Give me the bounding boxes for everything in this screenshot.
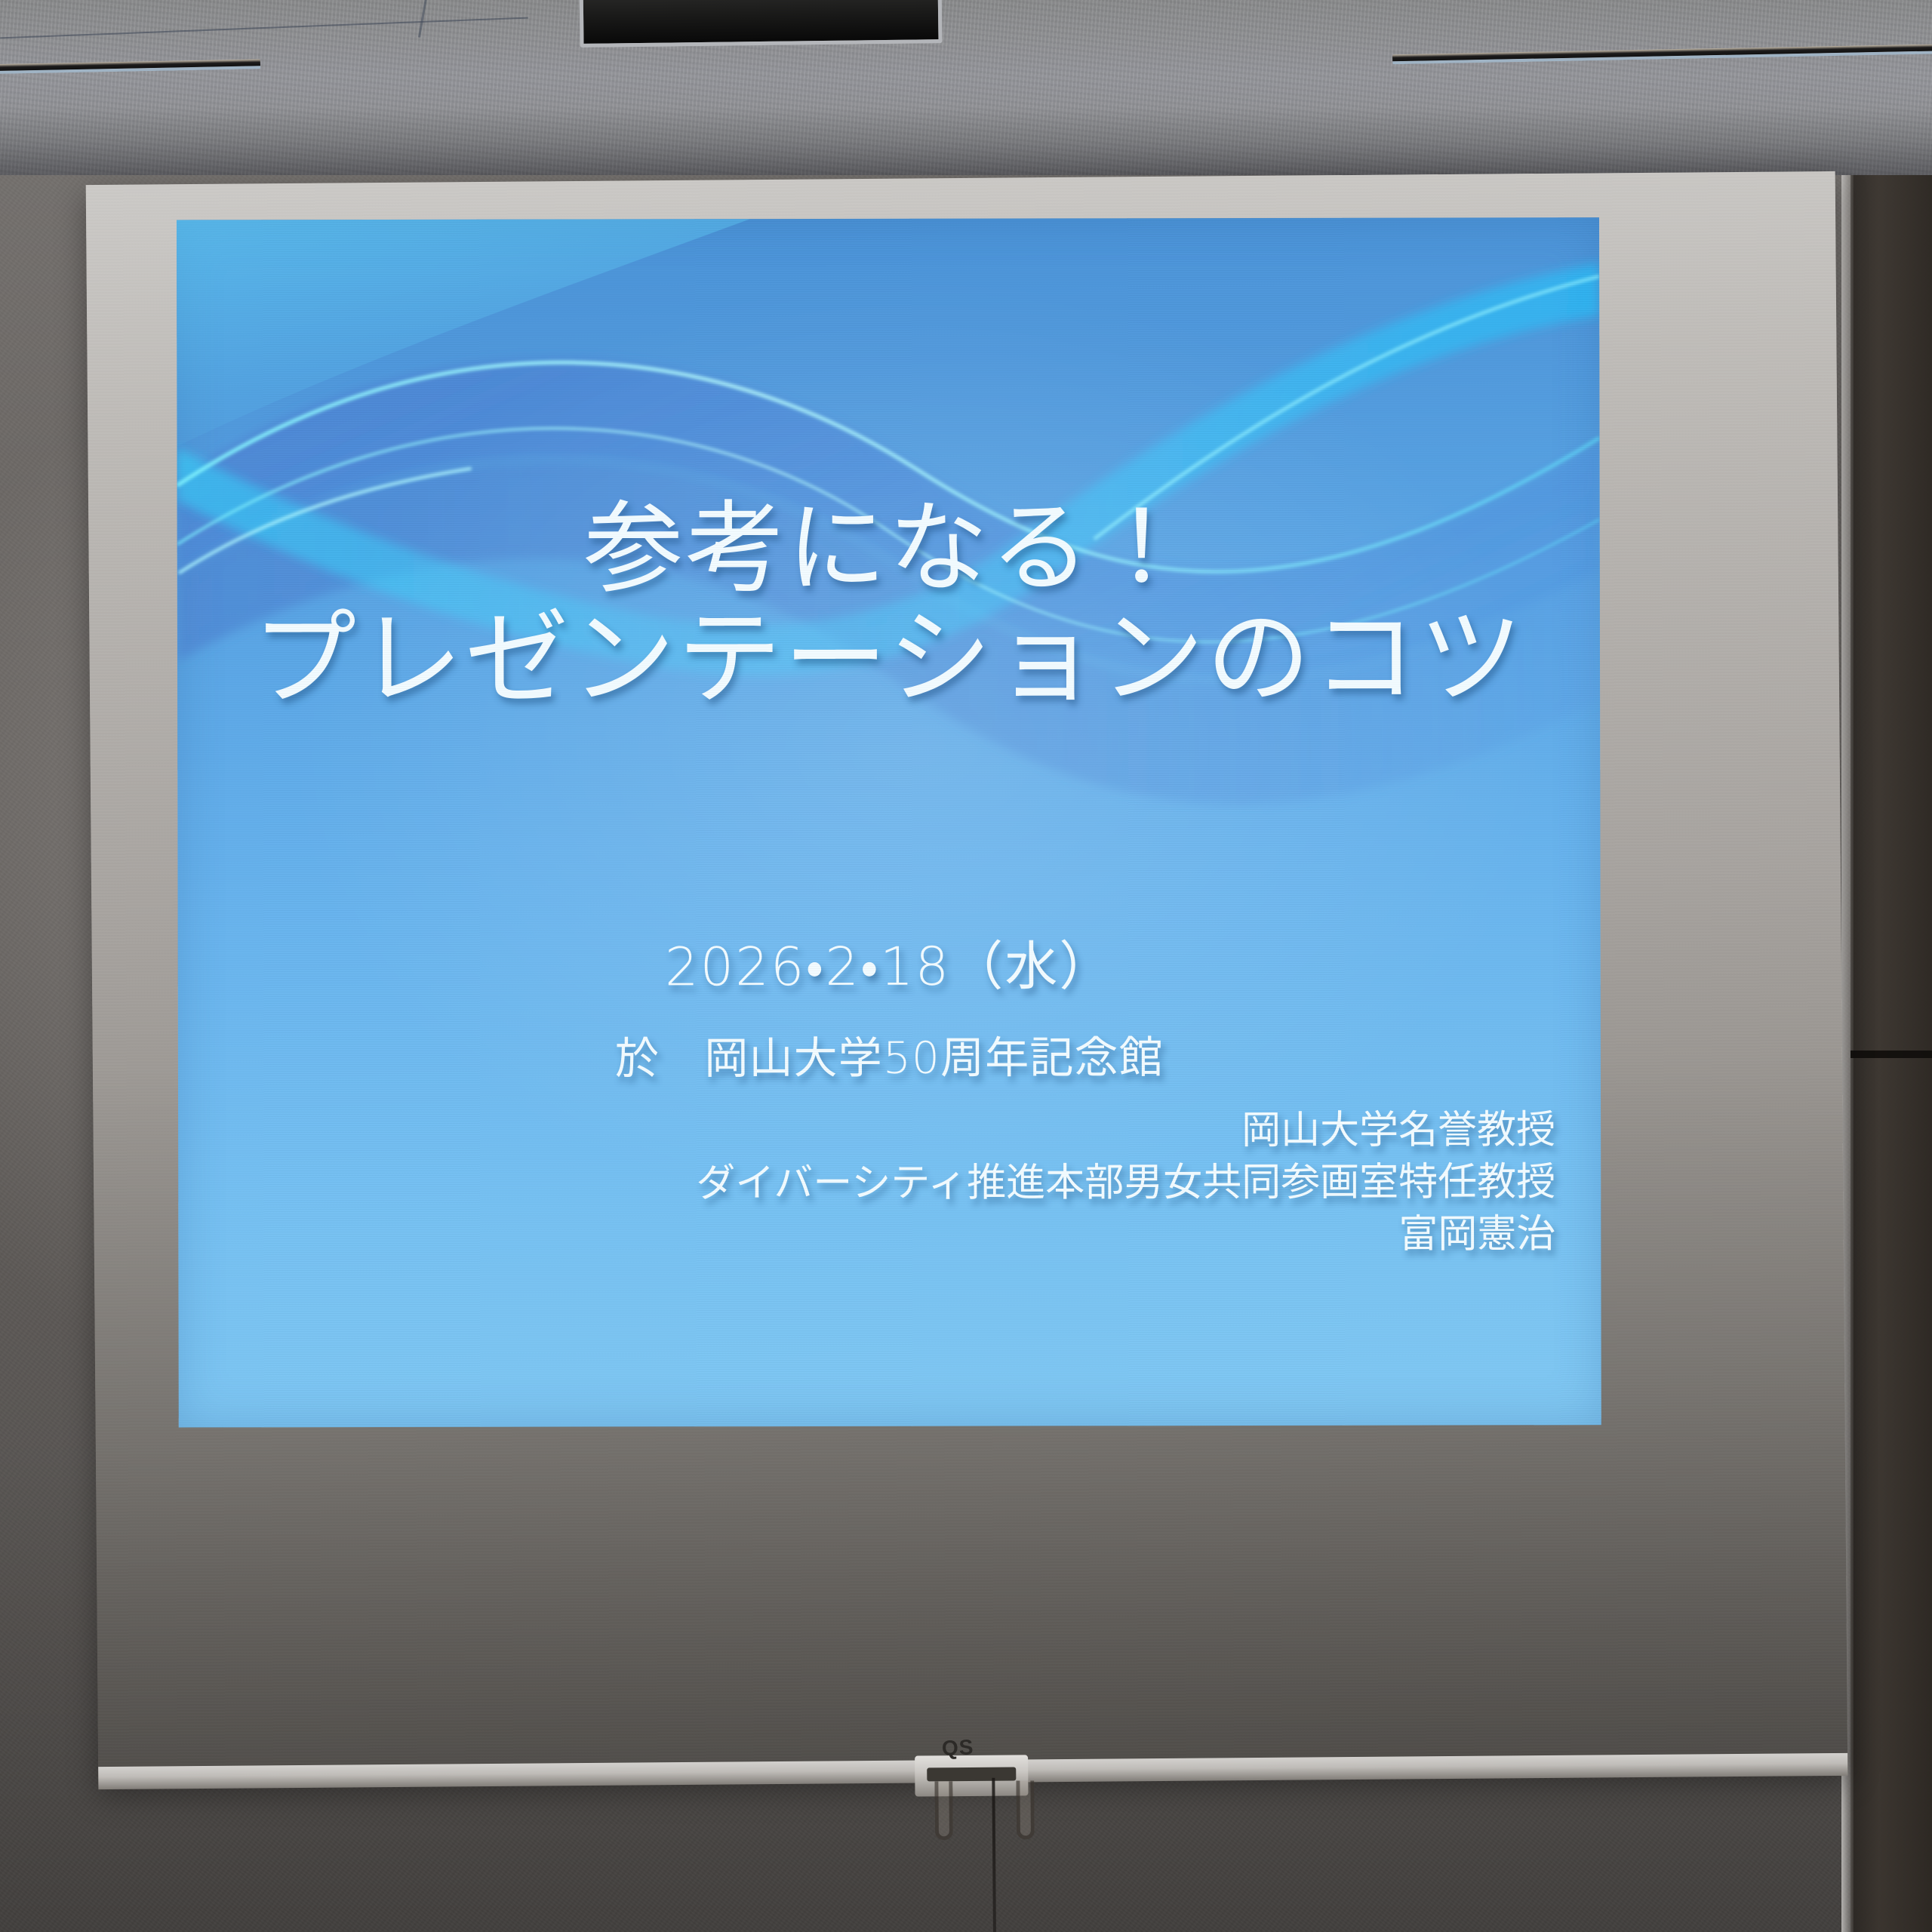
screen-hook-left (934, 1781, 953, 1840)
slide-title-line-1: 参考になる！ (177, 495, 1600, 603)
ceiling (0, 0, 1932, 190)
projection-screen[interactable]: 参考になる！ プレゼンテーションのコツ 2026・2・18（水） 於 岡山大学5… (86, 171, 1848, 1785)
slide-title-line-2: プレゼンテーションのコツ (177, 602, 1600, 715)
slide-presenter-block: 岡山大学名誉教授 ダイバーシティ推進本部男女共同参画室特任教授 富岡憲治 (247, 1104, 1556, 1263)
screen-handle-slot (927, 1767, 1016, 1782)
presenter-affiliation-2: ダイバーシティ推進本部男女共同参画室特任教授 (247, 1156, 1555, 1211)
presenter-affiliation-1: 岡山大学名誉教授 (247, 1104, 1555, 1158)
presenter-name: 富岡憲治 (247, 1209, 1555, 1263)
ceiling-air-vent (579, 0, 942, 48)
slide-venue: 於 岡山大学50周年記念館 (178, 1021, 1601, 1087)
projected-slide: 参考になる！ プレゼンテーションのコツ 2026・2・18（水） 於 岡山大学5… (177, 217, 1601, 1427)
lecture-room-photo: 参考になる！ プレゼンテーションのコツ 2026・2・18（水） 於 岡山大学5… (0, 0, 1932, 1932)
screen-pull-handle[interactable] (915, 1755, 1028, 1796)
screen-handle-label: QS (941, 1735, 974, 1761)
slide-event-date: 2026・2・18（水） (178, 923, 1601, 1001)
slide-text-content: 参考になる！ プレゼンテーションのコツ 2026・2・18（水） 於 岡山大学5… (177, 217, 1601, 1427)
screen-hook-right (1016, 1780, 1035, 1839)
wall-ledge-line (1850, 1051, 1932, 1058)
